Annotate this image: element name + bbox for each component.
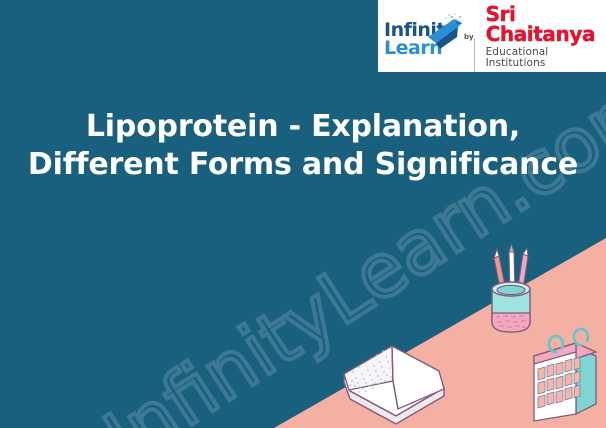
by-separator: by	[466, 32, 482, 40]
sri-chaitanya-logo: Sri Chaitanya Educational Institutions	[486, 4, 600, 68]
brand-logo-card[interactable]: Infinity Learn by	[378, 0, 606, 72]
arrow-swoosh-icon	[424, 13, 468, 59]
by-label: by	[464, 33, 474, 41]
divider-line	[474, 38, 475, 72]
infinity-learn-logo: Infinity Learn	[384, 13, 462, 59]
partner-title: Sri Chaitanya	[486, 4, 600, 44]
partner-subtitle: Educational Institutions	[486, 47, 600, 68]
page-title: Lipoprotein - Explanation, Different For…	[0, 108, 606, 185]
thumbnail-canvas: InfinityLearn.com	[0, 0, 606, 428]
logo-inner: Infinity Learn by	[384, 4, 600, 68]
